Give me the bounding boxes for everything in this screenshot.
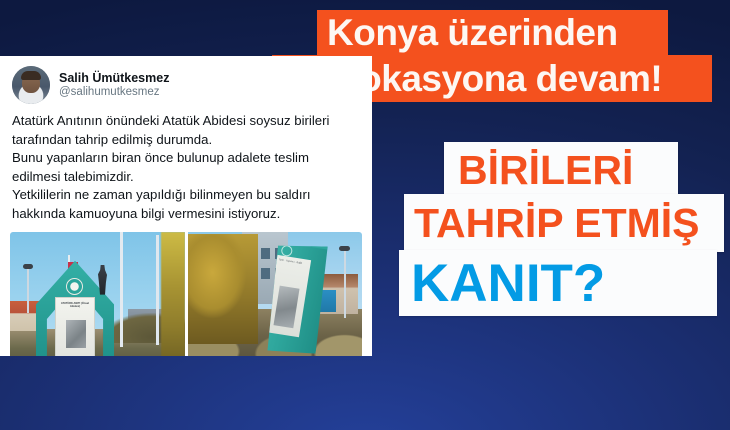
tweet-body-line: edilmesi talebimizdir. (12, 168, 362, 187)
callout-line-1-text: BİRİLERİ (458, 147, 633, 194)
photo2-large-bush (188, 234, 258, 344)
tweet-body-line: hakkında kamuoyuna bilgi vermesini istiy… (12, 205, 362, 224)
avatar[interactable] (12, 66, 50, 104)
photo1-streetlamp-pole (27, 267, 29, 313)
tweet-photo-1[interactable]: ATATÜRK ANITI (Önsel Abidesi) (10, 232, 185, 356)
photo2-panel-text: Tarih · Yapımcı · Bağlı (278, 258, 308, 266)
callout-box-line-2: TAHRİP ETMİŞ (404, 194, 724, 252)
poster-canvas: Konya üzerinden provokasyona devam! BİRİ… (0, 0, 730, 430)
tweet-header: Salih Ümütkesmez @salihumutkesmez (10, 65, 362, 105)
photo2-streetlamp-pole (344, 248, 346, 318)
photo1-tree (161, 232, 185, 356)
avatar-hair (21, 71, 41, 80)
callout-box-line-1: BİRİLERİ (444, 142, 678, 198)
callout-box-line-3: KANIT? (399, 250, 717, 316)
tweet-body-line: Atatürk Anıtının önündeki Atatük Abidesi… (12, 112, 362, 131)
tweet-body-line: Bunu yapanların biran önce bulunup adale… (12, 149, 362, 168)
photo2-window (261, 268, 270, 279)
photo1-monument-plaque: ATATÜRK ANITI (Önsel Abidesi) (55, 297, 95, 356)
photo2-panel-relief (273, 285, 299, 328)
photo1-monument-emblem (66, 278, 83, 295)
tweet-photo-2[interactable]: Tarih · Yapımcı · Bağlı (188, 232, 363, 356)
tweet-body-line: tarafından tahrip edilmiş durumda. (12, 131, 362, 150)
tweet-body-line: Yetkililerin ne zaman yapıldığı bilinmey… (12, 186, 362, 205)
headline-line-1-text: Konya üzerinden (327, 12, 618, 54)
photo1-plaque-title: ATATÜRK ANITI (Önsel Abidesi) (59, 302, 91, 308)
tweet-display-name: Salih Ümütkesmez (59, 71, 169, 85)
photo1-pole-a (120, 232, 123, 347)
photo2-window (261, 248, 270, 259)
headline-banner-line-1: Konya üzerinden (317, 10, 668, 55)
photo2-monument-top (310, 237, 329, 250)
tweet-card: Salih Ümütkesmez @salihumutkesmez Atatür… (0, 56, 372, 356)
callout-line-3-text: KANIT? (411, 253, 605, 314)
tweet-handle: @salihumutkesmez (59, 86, 169, 99)
tweet-author-block: Salih Ümütkesmez @salihumutkesmez (59, 71, 169, 99)
photo1-plaque-relief (66, 320, 86, 348)
photo2-streetlamp-head (339, 246, 350, 251)
callout-line-2-text: TAHRİP ETMİŞ (414, 200, 700, 247)
tweet-body: Atatürk Anıtının önündeki Atatük Abidesi… (10, 112, 362, 224)
tweet-photo-grid: ATATÜRK ANITI (Önsel Abidesi) (10, 232, 362, 356)
photo1-streetlamp-head (23, 264, 33, 269)
photo1-pole-b (156, 235, 159, 345)
